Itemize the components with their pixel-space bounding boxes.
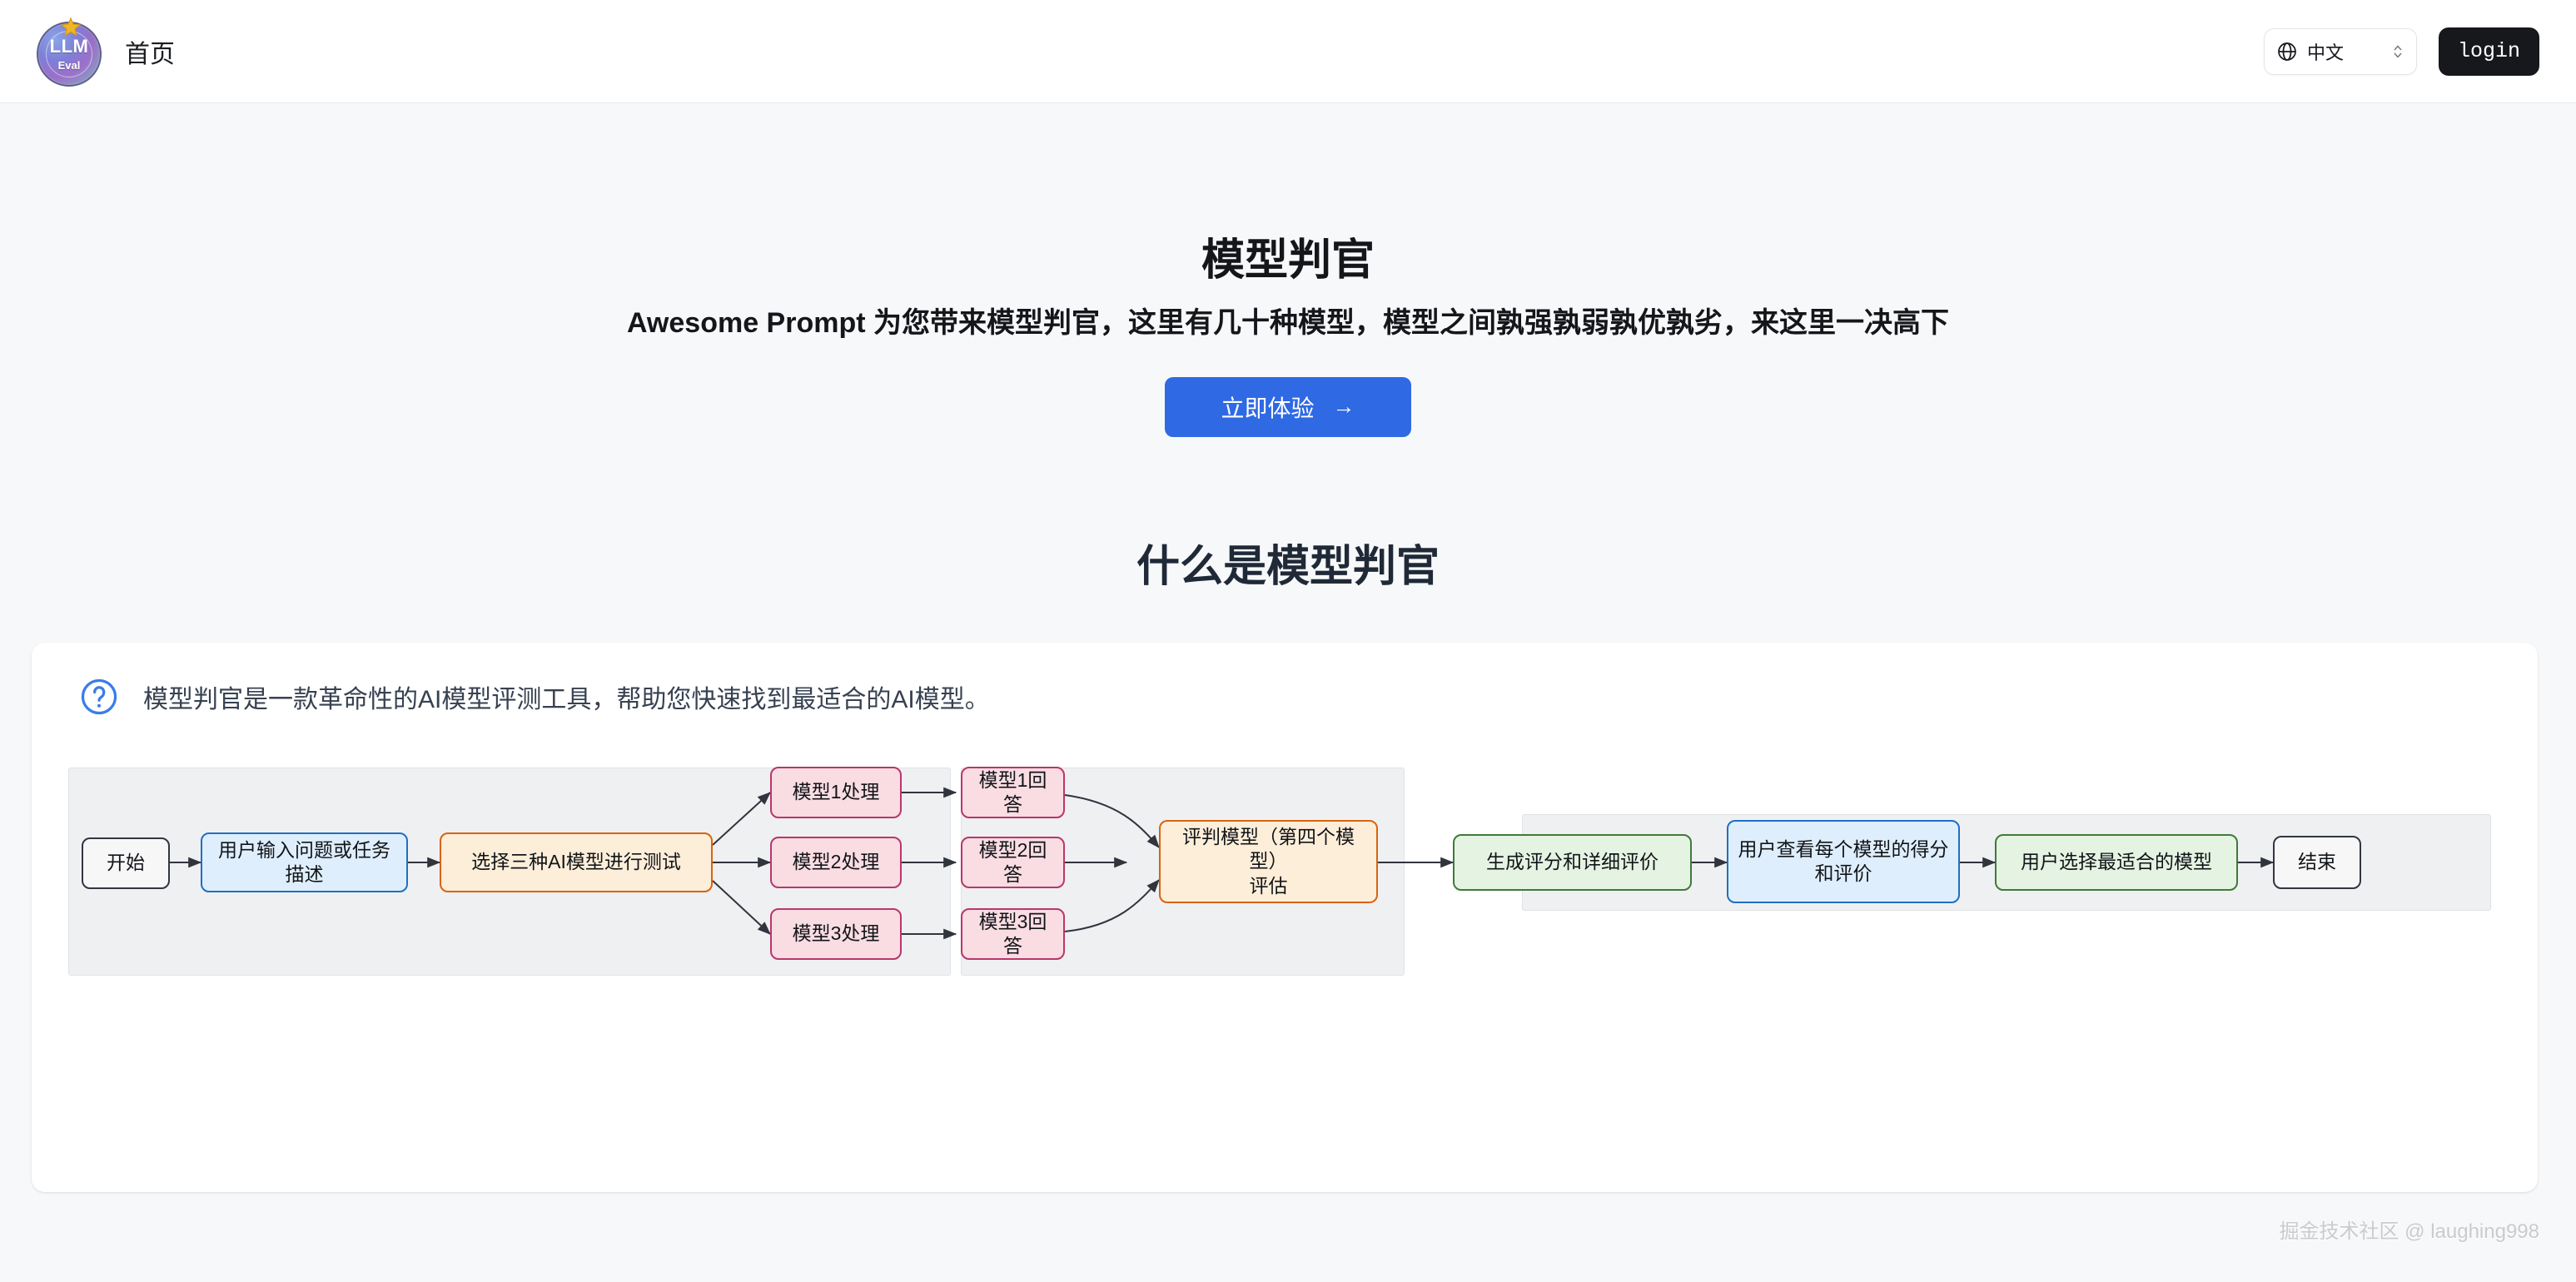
flow-node-user-view-scores[interactable]: 用户查看每个模型的得分 和评价 [1727, 820, 1960, 903]
flow-node-model1-answer[interactable]: 模型1回答 [961, 767, 1065, 818]
view-line-1: 用户查看每个模型的得分 [1738, 837, 1949, 862]
flow-node-user-choose-model[interactable]: 用户选择最适合的模型 [1995, 834, 2238, 891]
top-navigation-bar: LLM Eval 首页 中文 login [0, 0, 2576, 103]
flow-node-generate-score[interactable]: 生成评分和详细评价 [1453, 834, 1692, 891]
watermark: 掘金技术社区 @ laughing998 [2280, 1215, 2540, 1244]
arrow-right-icon: → [1333, 395, 1355, 418]
language-selector[interactable]: 中文 [2264, 28, 2417, 75]
flow-node-judge-model[interactable]: 评判模型（第四个模型） 评估 [1159, 820, 1378, 903]
cta-label: 立即体验 [1221, 390, 1314, 424]
page-title: 模型判官 [0, 239, 2576, 282]
star-icon [59, 17, 82, 40]
logo-secondary-text: Eval [58, 60, 81, 71]
flow-node-model2-process[interactable]: 模型2处理 [770, 837, 902, 888]
app-logo[interactable]: LLM Eval [37, 17, 107, 87]
hero-section: 模型判官 Awesome Prompt 为您带来模型判官，这里有几十种模型，模型… [0, 103, 2576, 437]
flow-node-user-input[interactable]: 用户输入问题或任务描述 [201, 832, 408, 892]
about-card: 模型判官是一款革命性的AI模型评测工具，帮助您快速找到最适合的AI模型。 [32, 643, 2538, 1192]
section-heading: 什么是模型判官 [0, 531, 2576, 594]
flow-node-model2-answer[interactable]: 模型2回答 [961, 837, 1065, 888]
flow-node-end[interactable]: 结束 [2273, 836, 2361, 889]
login-button[interactable]: login [2439, 27, 2539, 76]
try-now-button[interactable]: 立即体验 → [1165, 377, 1411, 437]
brand-home-link[interactable]: LLM Eval 首页 [37, 17, 175, 87]
flow-node-model3-answer[interactable]: 模型3回答 [961, 908, 1065, 960]
nav-home-label[interactable]: 首页 [125, 33, 175, 70]
header-actions: 中文 login [2264, 27, 2539, 76]
globe-icon [2276, 41, 2298, 62]
process-flowchart: 开始 用户输入问题或任务描述 选择三种AI模型进行测试 模型1处理 模型2处理 … [32, 643, 2538, 1192]
flow-node-start[interactable]: 开始 [82, 837, 170, 889]
judge-line-2: 评估 [1250, 874, 1288, 898]
language-value: 中文 [2307, 38, 2344, 65]
flow-node-model3-process[interactable]: 模型3处理 [770, 908, 902, 960]
flow-connectors [32, 643, 2538, 1192]
hero-subtitle: Awesome Prompt 为您带来模型判官，这里有几十种模型，模型之间孰强孰… [0, 306, 2576, 341]
judge-line-1: 评判模型（第四个模型） [1169, 825, 1368, 874]
chevron-up-down-icon[interactable] [2391, 42, 2404, 61]
view-line-2: 和评价 [1815, 862, 1872, 886]
flow-node-model1-process[interactable]: 模型1处理 [770, 767, 902, 818]
logo-primary-text: LLM [50, 37, 89, 56]
flow-node-select-models[interactable]: 选择三种AI模型进行测试 [440, 832, 713, 892]
